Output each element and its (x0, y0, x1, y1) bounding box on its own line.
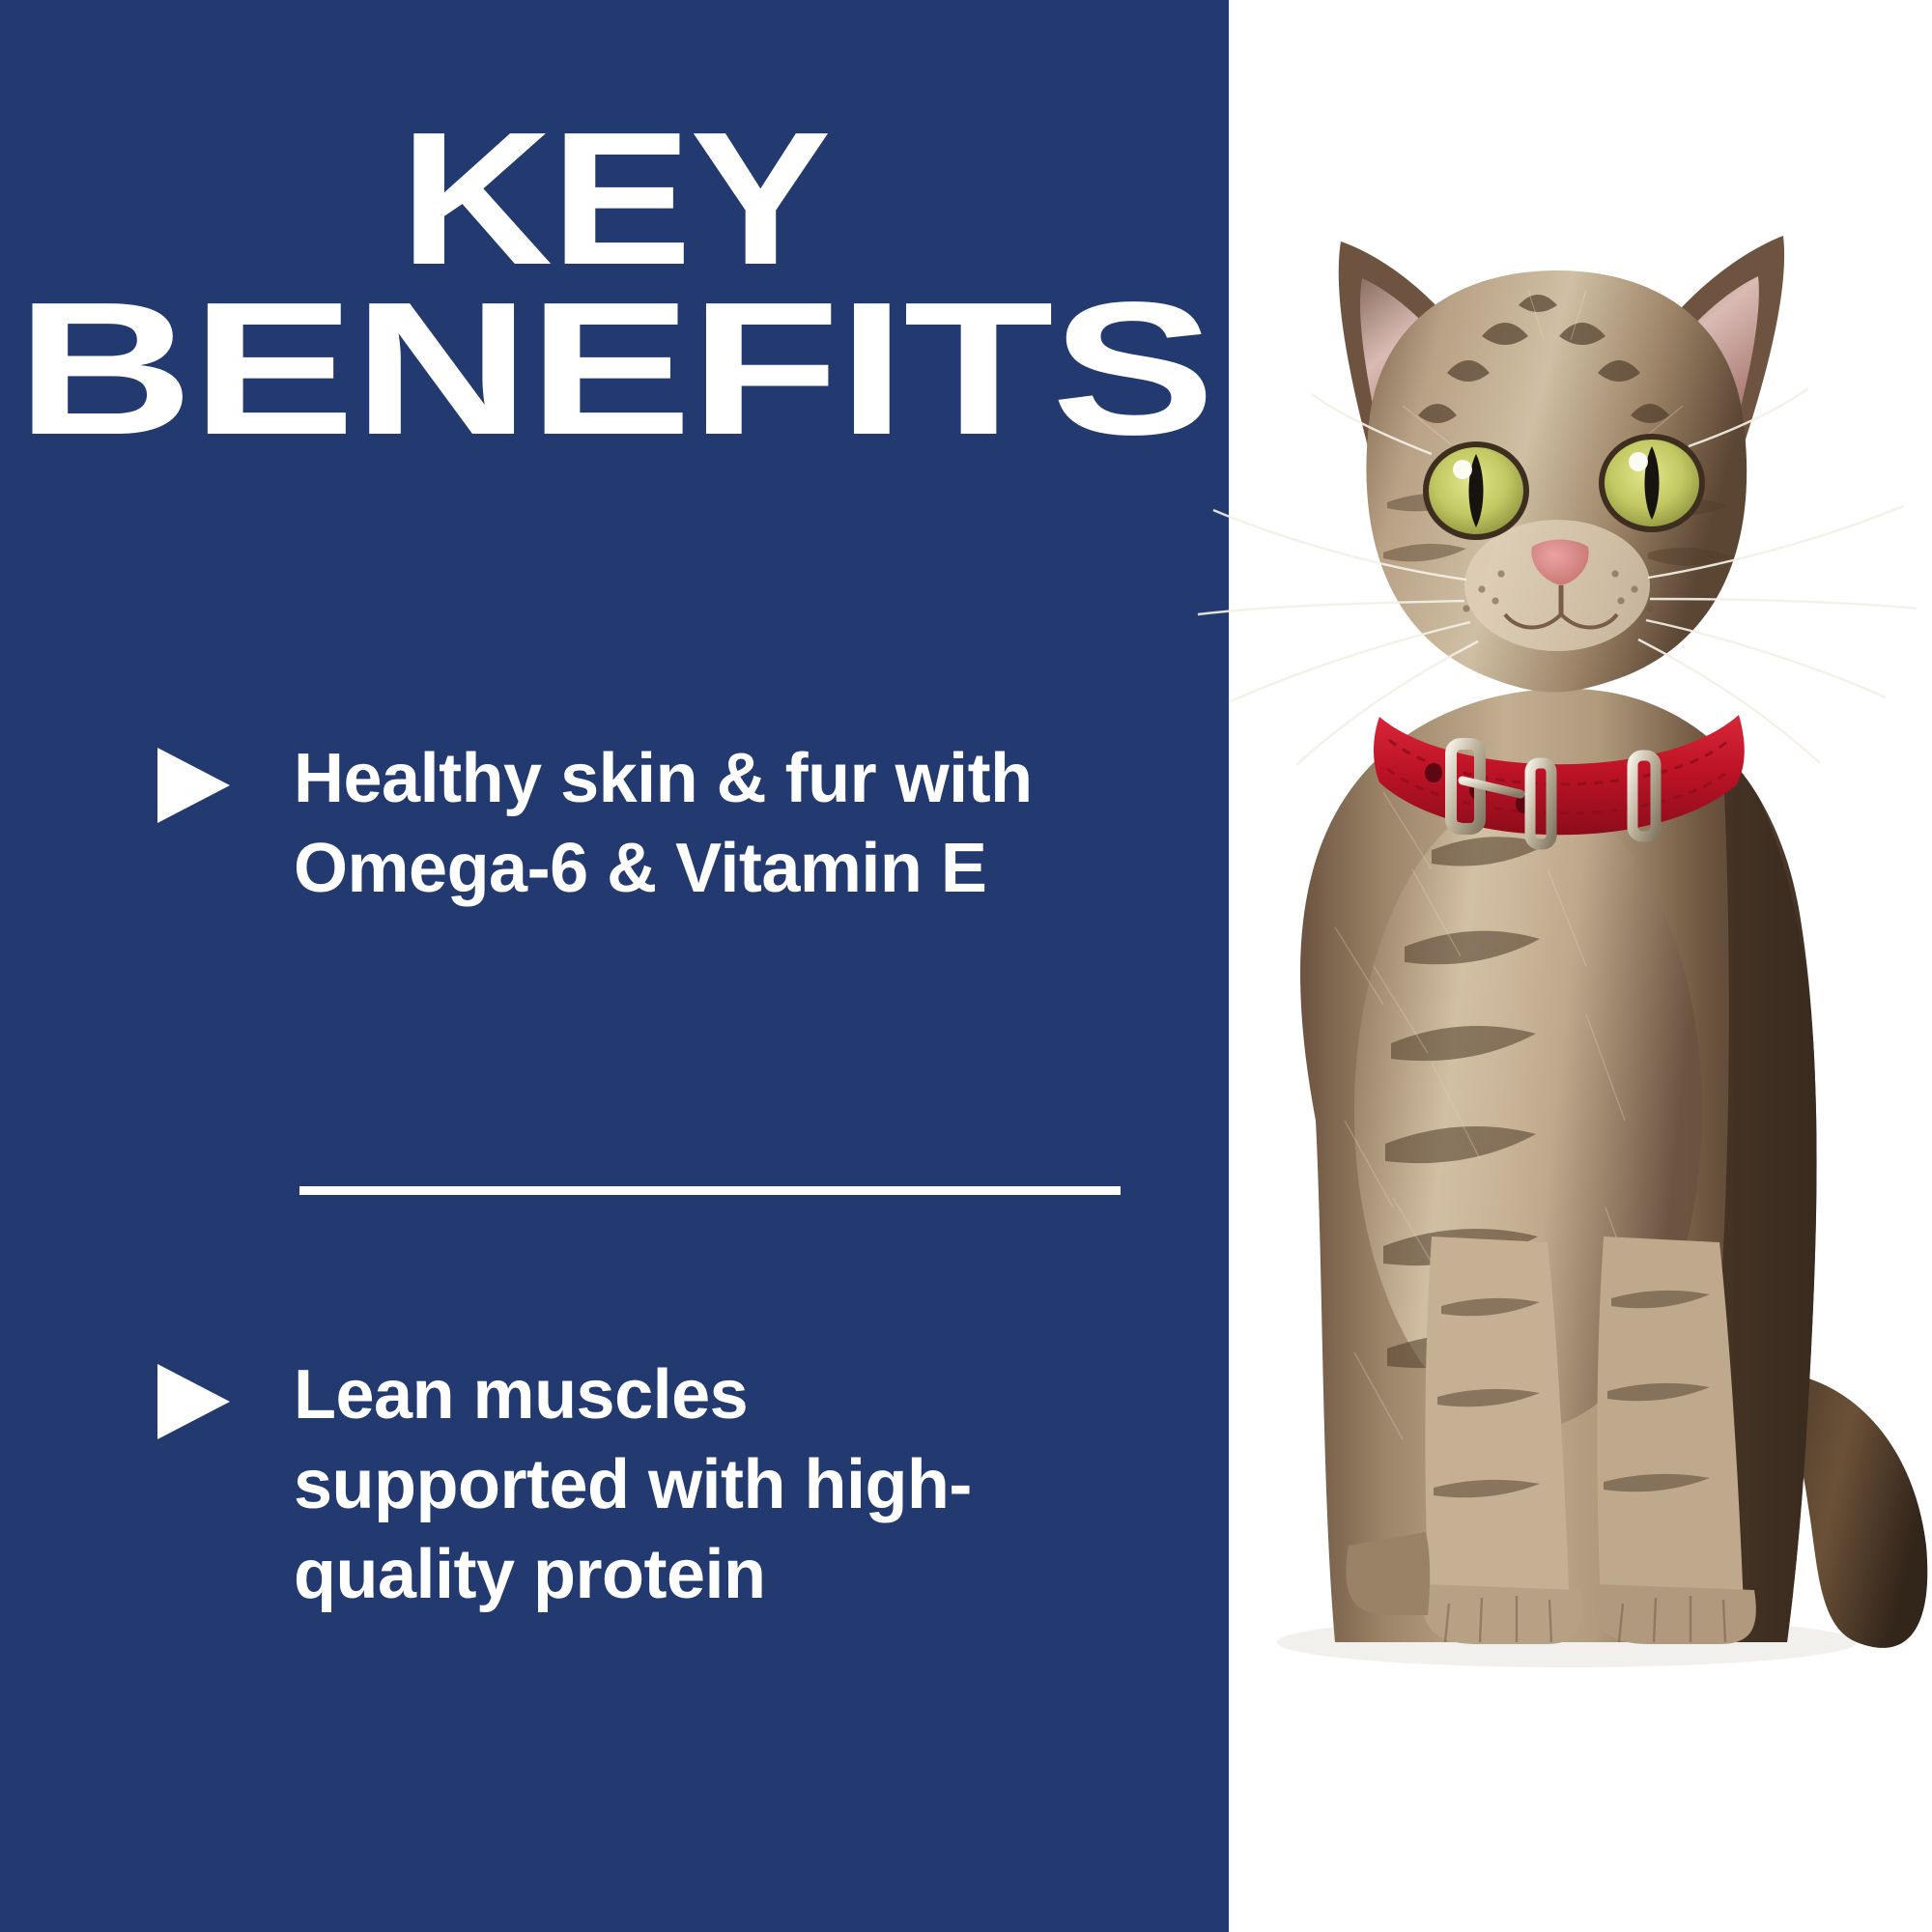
cat-paw-rear (1346, 1532, 1430, 1615)
benefit-item-2-label: Lean muscles supported with high-quality… (294, 1350, 1057, 1620)
cat-eye-right (1602, 437, 1702, 529)
benefit-item-1: Healthy skin & fur with Omega-6 & Vitami… (0, 734, 1229, 914)
divider-rule (299, 1186, 1121, 1195)
triangle-right-icon (157, 748, 230, 823)
benefits-list: Healthy skin & fur with Omega-6 & Vitami… (0, 734, 1229, 914)
benefits-divider (0, 1186, 1229, 1195)
benefit-item-2: Lean muscles supported with high-quality… (0, 1350, 1229, 1620)
key-benefits-banner: KEY BENEFITS Healthy skin & fur with Ome… (0, 0, 1932, 1932)
cat-photo (1229, 0, 1932, 1932)
title-line-1: KEY (0, 114, 1302, 284)
cat-eye-left (1426, 444, 1526, 537)
benefit-item-2-wrap: Lean muscles supported with high-quality… (0, 1350, 1229, 1620)
cat-illustration (1142, 0, 1932, 1932)
collar-hole (1425, 763, 1442, 782)
page-title: KEY BENEFITS (0, 114, 1229, 454)
cat-head (1198, 236, 1917, 765)
triangle-right-icon (157, 1364, 230, 1439)
benefit-item-1-label: Healthy skin & fur with Omega-6 & Vitami… (294, 734, 1057, 914)
